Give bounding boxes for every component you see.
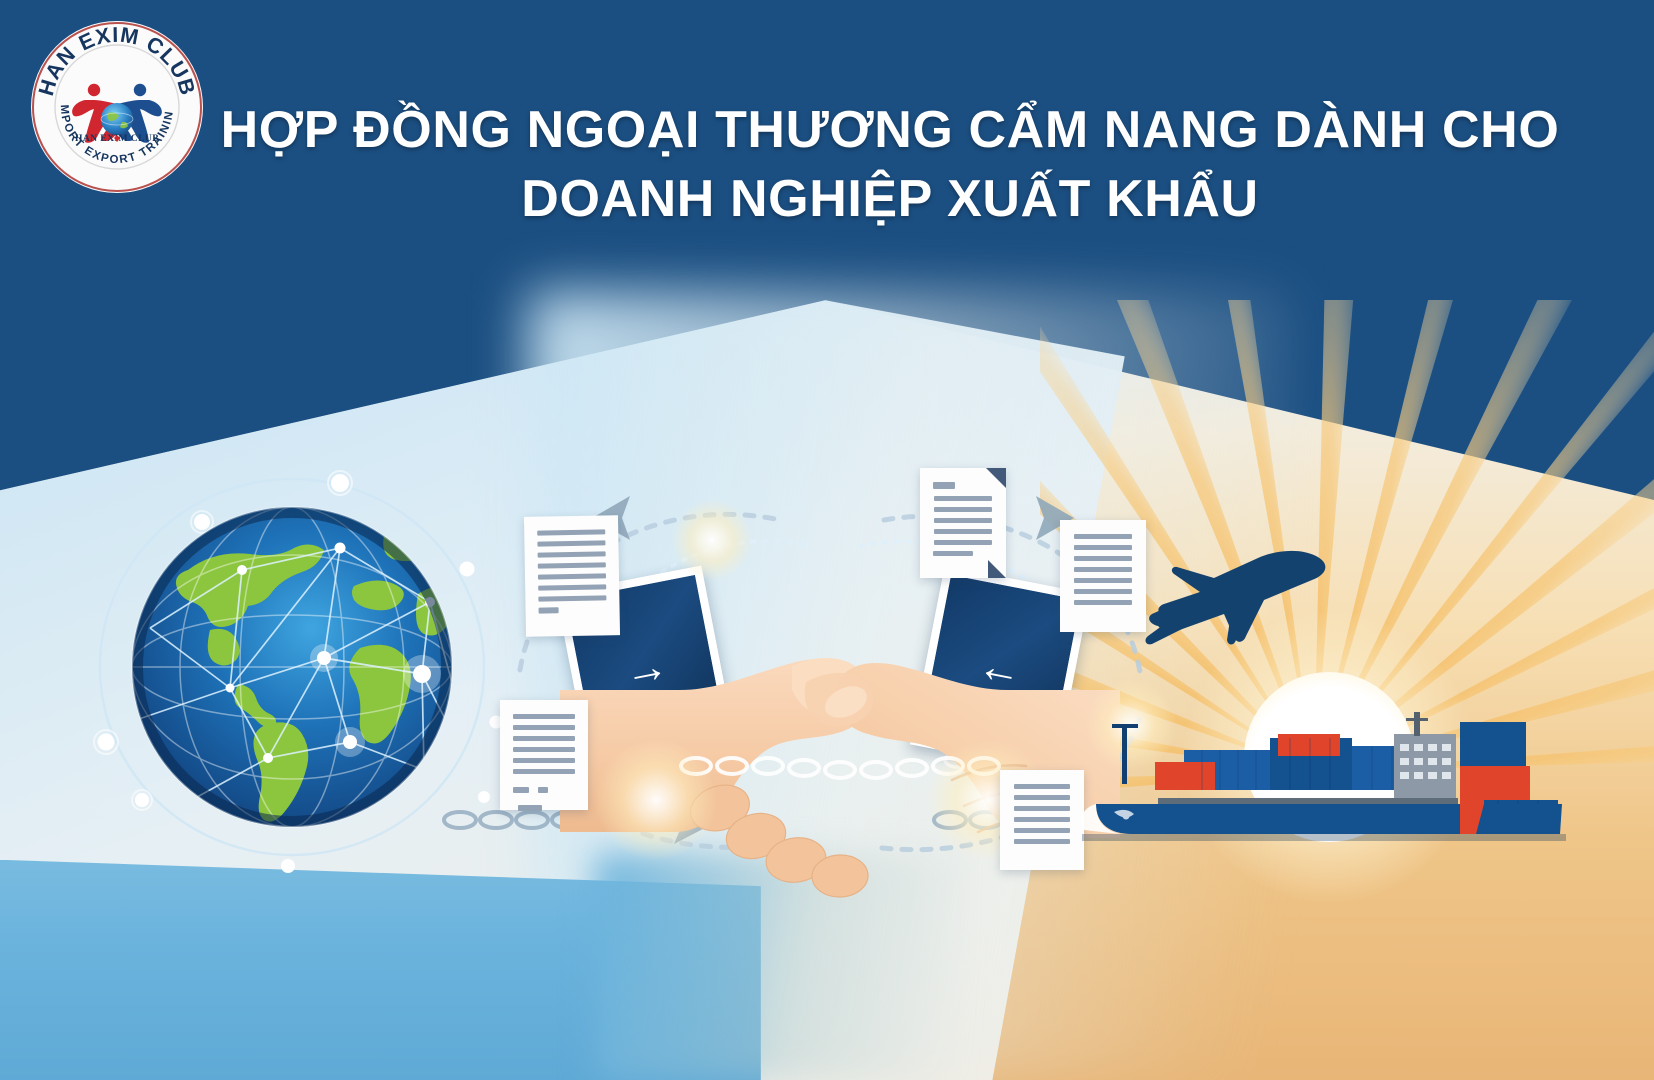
document-lines: [1060, 520, 1146, 623]
document-lines: [524, 515, 620, 632]
document-folded-icon: [920, 468, 1006, 578]
han-exim-club-logo: HAN EXIM CLUB IMPORT EXPORT TRAINING HAN…: [28, 18, 206, 196]
airplane-icon: [1140, 540, 1360, 650]
page-title: HỢP ĐỒNG NGOẠI THƯƠNG CẨM NANG DÀNH CHO …: [210, 96, 1570, 234]
document-icon: [500, 700, 588, 810]
document-lines: [500, 700, 588, 828]
banner-canvas: HỢP ĐỒNG NGOẠI THƯƠNG CẨM NANG DÀNH CHO …: [0, 0, 1654, 1080]
document-icon: [1060, 520, 1146, 632]
document-lines: [920, 468, 1006, 574]
document-icon: [524, 515, 620, 637]
cargo-ship-icon: [1062, 700, 1582, 860]
